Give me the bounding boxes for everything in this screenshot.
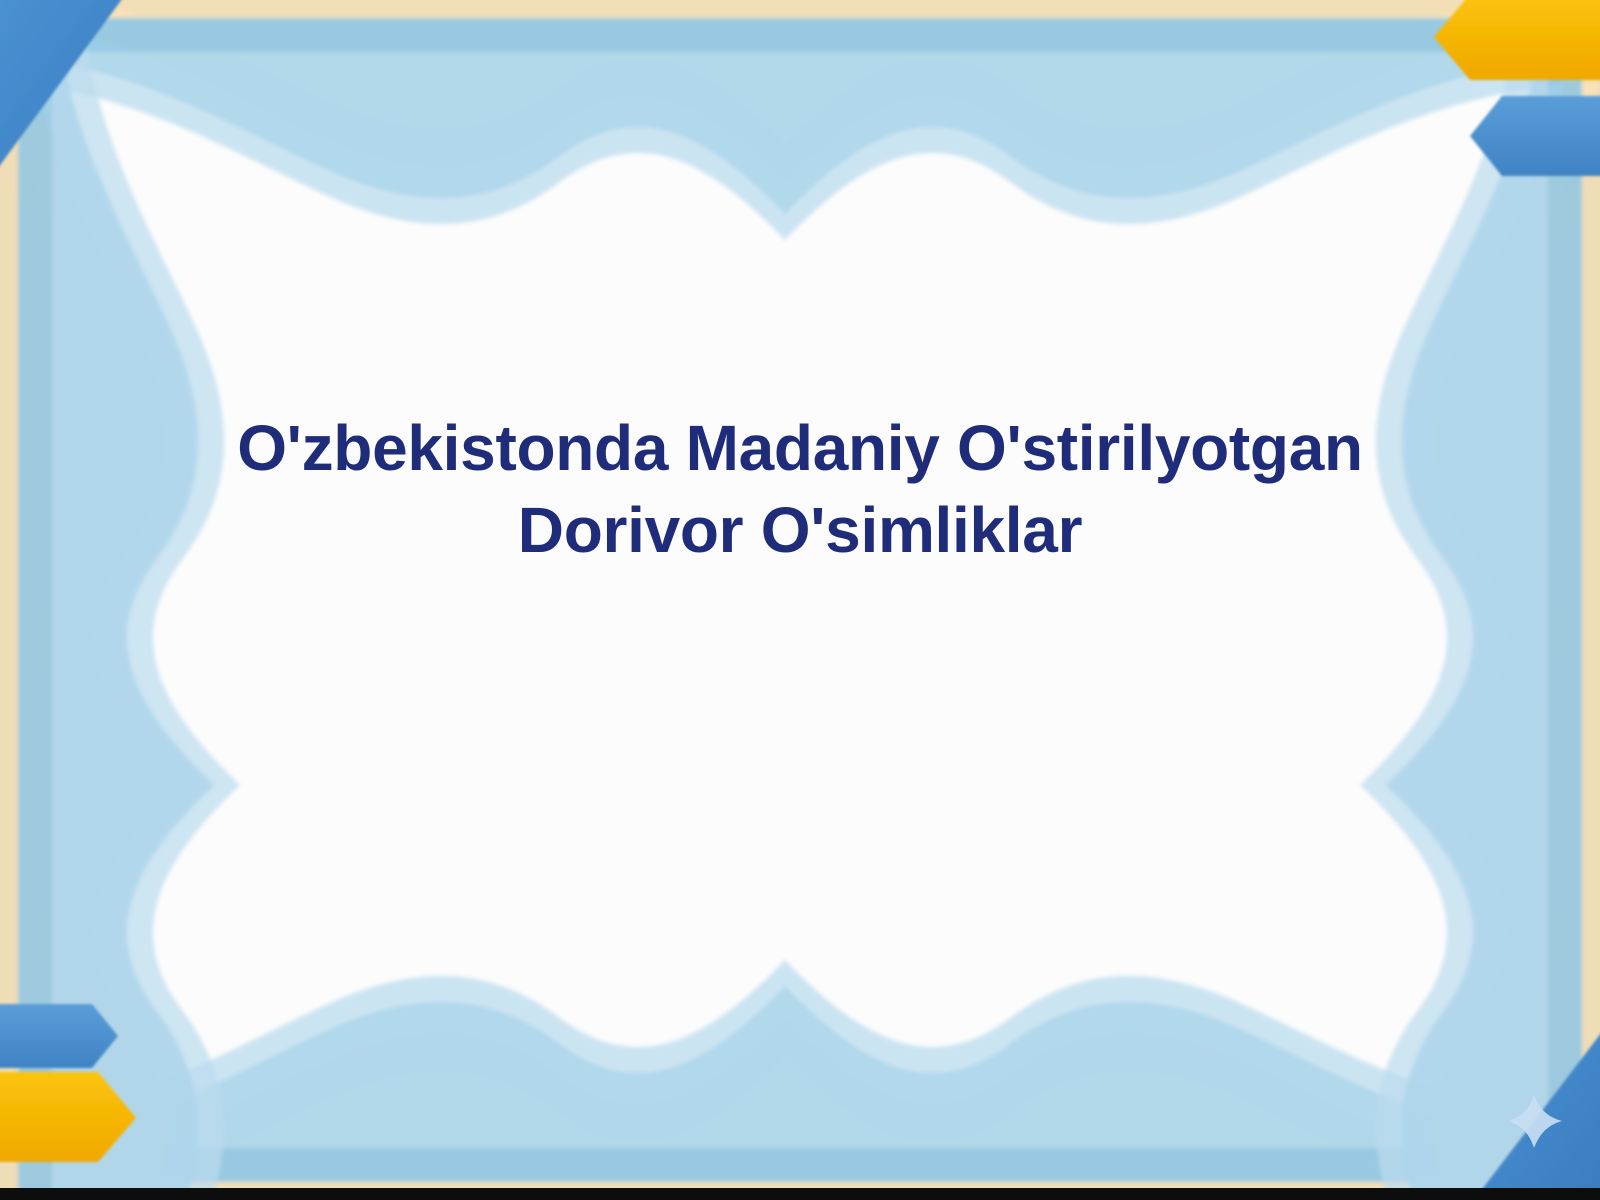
presentation-slide: O'zbekistonda Madaniy O'stirilyotgan Dor… (0, 0, 1600, 1200)
page-title: O'zbekistonda Madaniy O'stirilyotgan Dor… (180, 408, 1420, 572)
bottom-edge-bar (0, 1188, 1600, 1200)
slide-background-decoration (0, 0, 1600, 1200)
title-block: O'zbekistonda Madaniy O'stirilyotgan Dor… (180, 408, 1420, 572)
